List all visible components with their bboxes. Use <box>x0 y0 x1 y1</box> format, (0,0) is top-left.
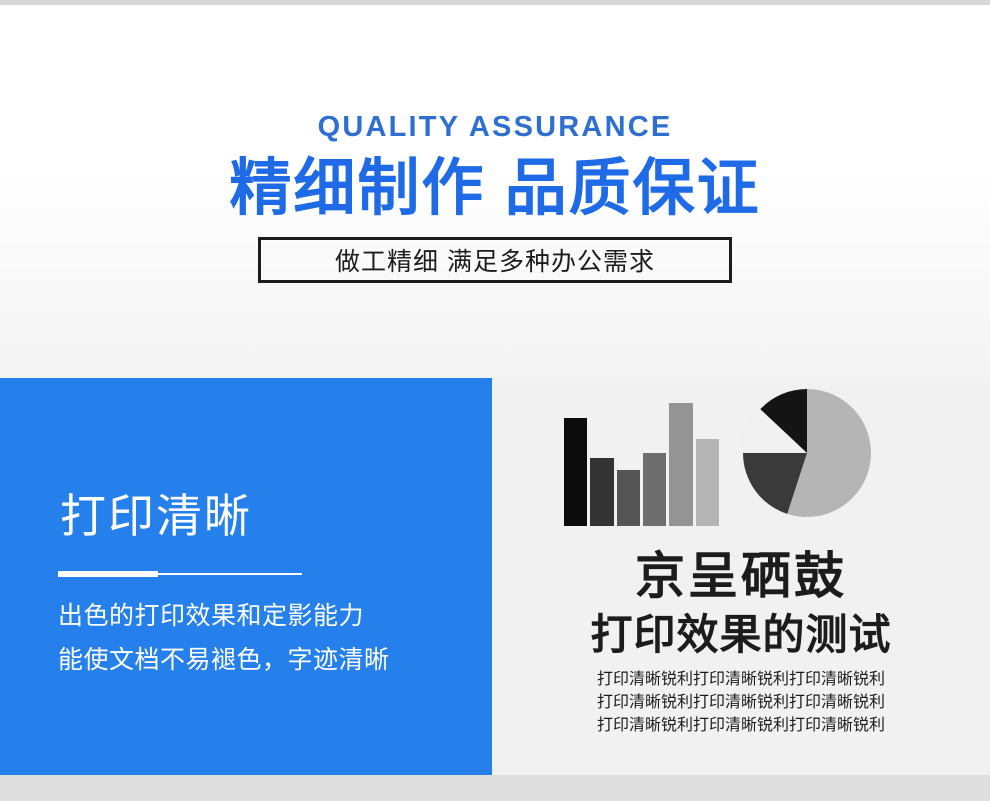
feature-panel-print-clarity: 打印清晰 出色的打印效果和定影能力 能使文档不易褪色，字迹清晰 <box>0 378 492 775</box>
bottom-gray-band <box>0 775 990 801</box>
test-result-panel: 京呈硒鼓 打印效果的测试 打印清晰锐利打印清晰锐利打印清晰锐利打印清晰锐利打印清… <box>492 378 990 775</box>
brand-name: 京呈硒鼓 <box>492 546 990 606</box>
tagline-text: 做工精细 满足多种办公需求 <box>261 240 729 280</box>
bar-chart-bar <box>669 403 692 527</box>
pie-chart <box>742 388 872 518</box>
feature-description: 出色的打印效果和定影能力 能使文档不易褪色，字迹清晰 <box>58 594 478 682</box>
feature-divider <box>58 571 302 577</box>
tagline-box: 做工精细 满足多种办公需求 <box>258 237 732 283</box>
feature-description-line-2: 能使文档不易褪色，字迹清晰 <box>58 638 478 682</box>
content-section: 打印清晰 出色的打印效果和定影能力 能使文档不易褪色，字迹清晰 京呈硒鼓 打印效… <box>0 378 990 775</box>
bar-chart-bar <box>617 470 640 526</box>
product-banner-page: QUALITY ASSURANCE 精细制作 品质保证 做工精细 满足多种办公需… <box>0 0 990 801</box>
divider-thick-segment <box>58 571 158 577</box>
bar-chart-bar <box>564 418 587 526</box>
brand-subtitle: 打印效果的测试 <box>492 610 990 660</box>
divider-thin-segment <box>158 573 302 575</box>
feature-title: 打印清晰 <box>60 488 252 544</box>
pie-chart-svg <box>742 388 872 518</box>
header-section: QUALITY ASSURANCE 精细制作 品质保证 做工精细 满足多种办公需… <box>0 5 990 378</box>
page-title: 精细制作 品质保证 <box>0 153 990 225</box>
fineprint-line: 打印清晰锐利打印清晰锐利打印清晰锐利 <box>492 668 990 691</box>
bar-chart <box>564 396 719 526</box>
bar-chart-bar <box>643 453 666 526</box>
bar-chart-bar <box>590 458 613 526</box>
fineprint-block: 打印清晰锐利打印清晰锐利打印清晰锐利打印清晰锐利打印清晰锐利打印清晰锐利打印清晰… <box>492 668 990 737</box>
bar-chart-bar <box>696 439 719 526</box>
fineprint-line: 打印清晰锐利打印清晰锐利打印清晰锐利 <box>492 691 990 714</box>
fineprint-line: 打印清晰锐利打印清晰锐利打印清晰锐利 <box>492 714 990 737</box>
charts-area <box>492 378 990 548</box>
eyebrow-text: QUALITY ASSURANCE <box>0 110 990 144</box>
feature-description-line-1: 出色的打印效果和定影能力 <box>58 594 478 638</box>
